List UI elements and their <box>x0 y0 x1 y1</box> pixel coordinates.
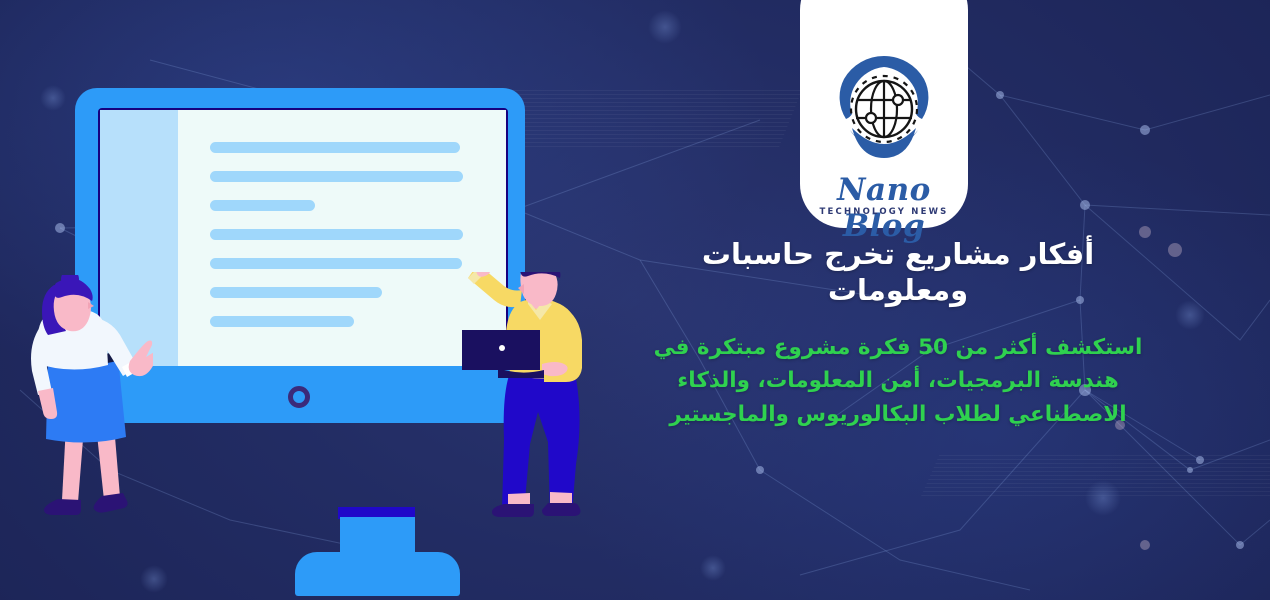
shoe-left <box>44 499 81 515</box>
woman-presenting <box>18 275 153 520</box>
skirt <box>46 357 126 443</box>
glow-dot <box>40 85 66 111</box>
screen-text-line <box>210 287 382 298</box>
monitor-screen <box>100 110 506 366</box>
nose <box>88 302 94 309</box>
text-block: أفكار مشاريع تخرج حاسبات ومعلومات استكشف… <box>638 236 1158 432</box>
screen-text-line <box>210 142 460 153</box>
page-title: أفكار مشاريع تخرج حاسبات ومعلومات <box>638 236 1158 309</box>
screen-text-line <box>210 200 315 211</box>
screen-text-line <box>210 258 462 269</box>
shoe-right <box>542 503 580 516</box>
glow-dot <box>1175 300 1205 330</box>
hand-right <box>129 341 153 377</box>
globe-node-bottom <box>866 113 876 123</box>
screen-text-line <box>210 229 463 240</box>
screen-text-line <box>210 316 354 327</box>
glow-dot <box>648 10 682 44</box>
pants <box>502 368 580 514</box>
man-holding-laptop <box>462 272 602 520</box>
glow-dot <box>1085 480 1121 516</box>
glow-dot <box>140 565 168 593</box>
scanline-decor-2 <box>921 455 1270 497</box>
shoe-left <box>492 504 534 517</box>
globe-network-icon <box>836 52 932 160</box>
shoe-right <box>94 493 128 513</box>
screen-text-line <box>210 171 463 182</box>
page-subtitle: استكشف أكثر من 50 فكرة مشروع مبتكرة في ه… <box>638 331 1158 433</box>
logo-tagline: TECHNOLOGY NEWS <box>800 207 968 217</box>
monitor-stand-base <box>295 552 460 596</box>
screen-text-lines <box>210 142 463 327</box>
laptop-logo-icon <box>499 345 505 351</box>
promo-banner: Nano Blog TECHNOLOGY NEWS أفكار مشاريع ت… <box>0 0 1270 600</box>
glow-dot <box>700 555 726 581</box>
monitor-power-ring-icon <box>288 386 310 408</box>
globe-node-top <box>893 95 903 105</box>
